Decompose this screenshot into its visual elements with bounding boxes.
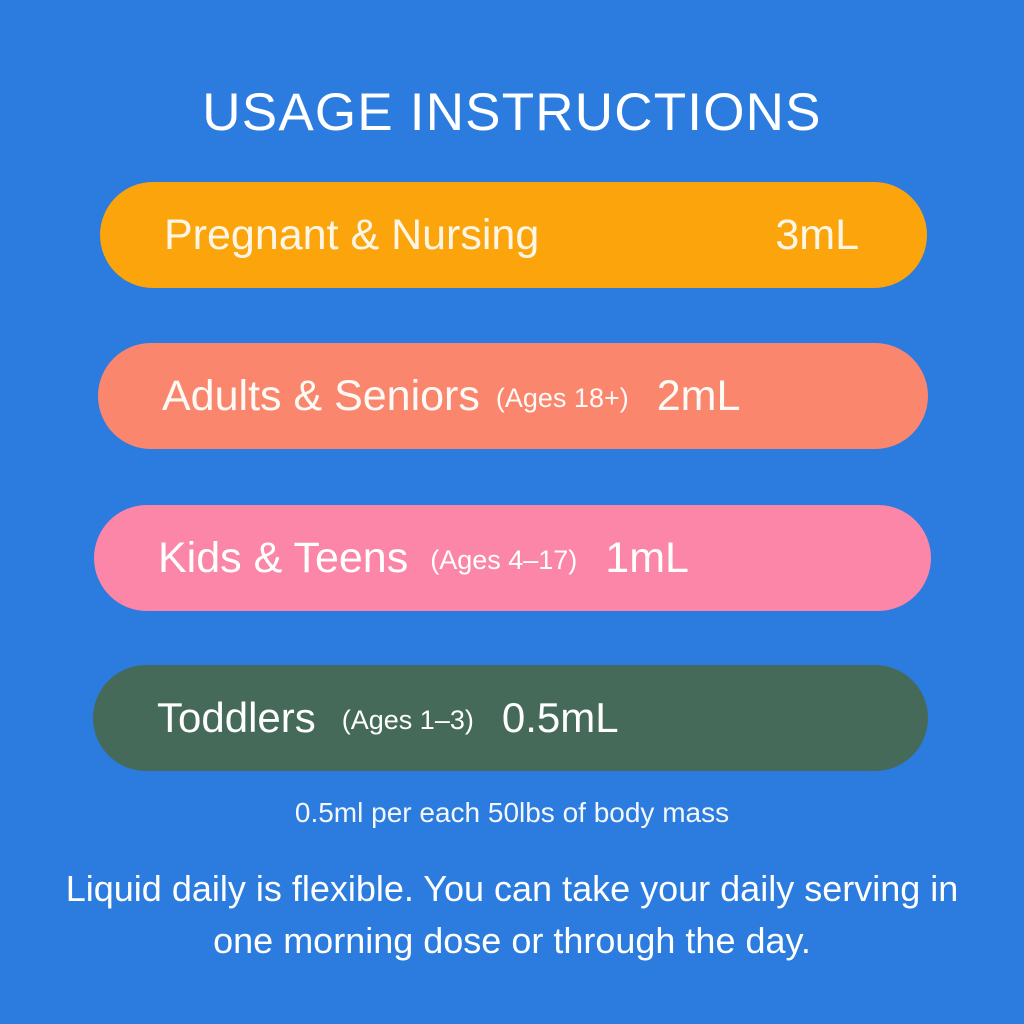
dosage-row-adults-seniors: Adults & Seniors (Ages 18+) 2mL [98,343,928,449]
dosage-amount: 1mL [605,537,689,580]
dosage-age-range: (Ages 4–17) [430,547,577,574]
usage-instructions-poster: USAGE INSTRUCTIONS Pregnant & Nursing 3m… [0,0,1024,1024]
dosage-group-label: Kids & Teens [158,537,408,580]
dosage-group-label: Adults & Seniors [162,375,480,418]
dosage-row-kids-teens: Kids & Teens (Ages 4–17) 1mL [94,505,931,611]
dosage-age-range: (Ages 18+) [496,385,629,412]
dosage-amount: 0.5mL [502,697,619,739]
dosage-amount: 3mL [775,214,859,257]
flexible-dosing-note: Liquid daily is flexible. You can take y… [62,863,962,967]
dosage-group-label: Pregnant & Nursing [164,214,539,257]
dosage-row-toddlers: Toddlers (Ages 1–3) 0.5mL [93,665,928,771]
dosage-age-range: (Ages 1–3) [342,707,474,734]
dosage-amount: 2mL [657,375,741,418]
dosage-row-pregnant-nursing: Pregnant & Nursing 3mL [100,182,927,288]
dosage-group-label: Toddlers [157,697,316,739]
weight-based-footnote: 0.5ml per each 50lbs of body mass [0,796,1024,830]
page-title: USAGE INSTRUCTIONS [0,84,1024,142]
